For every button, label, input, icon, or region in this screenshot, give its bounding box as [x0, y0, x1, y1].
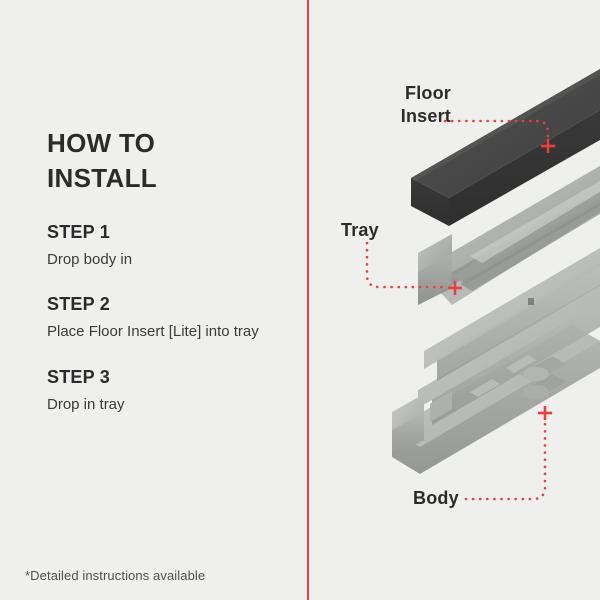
step-3-title: STEP 3: [47, 367, 282, 388]
step-2-title: STEP 2: [47, 294, 282, 315]
label-tray: Tray: [341, 219, 379, 242]
install-instruction-graphic: HOW TO INSTALL STEP 1 Drop body in STEP …: [0, 0, 600, 600]
step-item: STEP 2 Place Floor Insert [Lite] into tr…: [47, 294, 282, 342]
label-body: Body: [413, 487, 459, 510]
step-item: STEP 3 Drop in tray: [47, 367, 282, 415]
instructions-panel: HOW TO INSTALL STEP 1 Drop body in STEP …: [0, 0, 308, 600]
label-floor-insert: Floor Insert: [375, 82, 451, 128]
plus-marker-body: [538, 406, 552, 420]
step-1-description: Drop body in: [47, 249, 282, 270]
exploded-diagram: Floor Insert Tray Body: [309, 0, 600, 600]
step-2-description: Place Floor Insert [Lite] into tray: [47, 321, 282, 342]
step-3-description: Drop in tray: [47, 394, 282, 415]
page-title: HOW TO INSTALL: [47, 126, 277, 195]
steps-list: STEP 1 Drop body in STEP 2 Place Floor I…: [47, 222, 282, 439]
footnote: *Detailed instructions available: [25, 568, 205, 583]
step-1-title: STEP 1: [47, 222, 282, 243]
step-item: STEP 1 Drop body in: [47, 222, 282, 270]
page-title-line-1: HOW TO: [47, 126, 277, 161]
page-title-line-2: INSTALL: [47, 161, 277, 196]
